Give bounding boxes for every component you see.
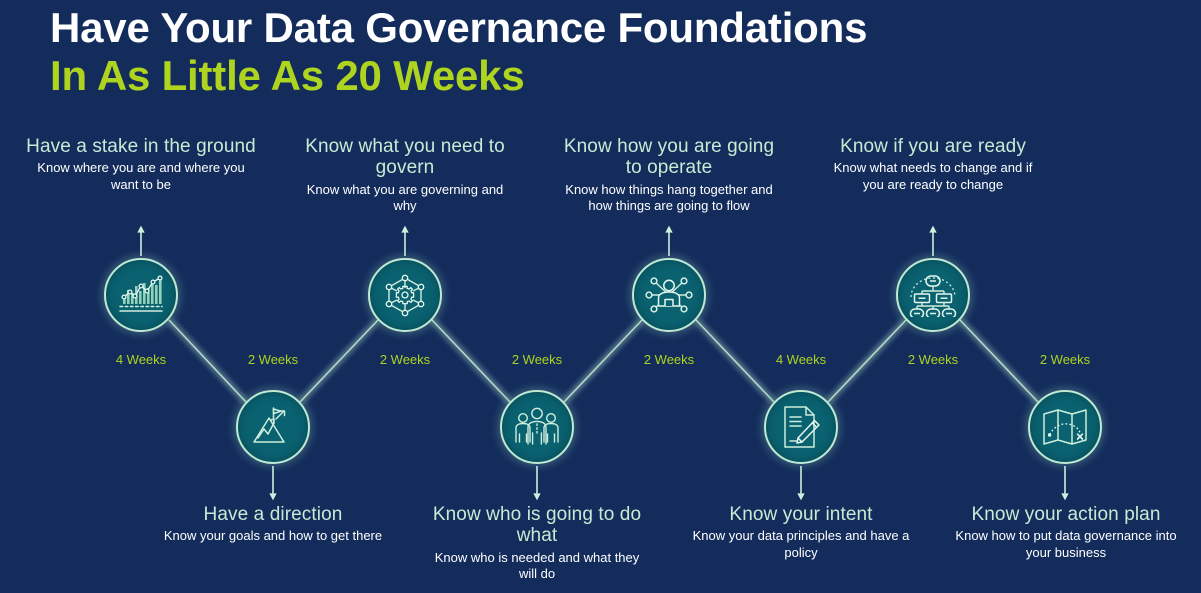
duration-label-6: 4 Weeks xyxy=(761,352,841,367)
caption-title-8: Know your action plan xyxy=(952,504,1180,525)
org-chart-hierarchy-icon xyxy=(908,273,958,317)
caption-title-1: Have a stake in the ground xyxy=(26,136,256,157)
duration-label-4: 2 Weeks xyxy=(497,352,577,367)
duration-label-3: 2 Weeks xyxy=(365,352,445,367)
caption-milestone-2: Have a direction Know your goals and how… xyxy=(162,504,384,545)
caption-milestone-7: Know if you are ready Know what needs to… xyxy=(822,136,1044,194)
caption-milestone-1: Have a stake in the ground Know where yo… xyxy=(26,136,256,194)
duration-label-2: 2 Weeks xyxy=(233,352,313,367)
caption-title-5: Know how you are going to operate xyxy=(558,136,780,179)
milestone-node-8[interactable] xyxy=(1028,390,1102,464)
three-people-team-icon xyxy=(513,406,561,448)
duration-label-1: 4 Weeks xyxy=(101,352,181,367)
duration-label-7: 2 Weeks xyxy=(893,352,973,367)
milestone-node-5[interactable] xyxy=(632,258,706,332)
duration-label-8: 2 Weeks xyxy=(1025,352,1105,367)
person-network-nodes-icon xyxy=(645,272,693,318)
infographic-canvas: Have Your Data Governance Foundations In… xyxy=(0,0,1201,593)
document-pencil-icon xyxy=(779,404,823,450)
caption-title-4: Know who is going to do what xyxy=(426,504,648,547)
caption-title-3: Know what you need to govern xyxy=(294,136,516,179)
caption-title-6: Know your intent xyxy=(690,504,912,525)
bar-chart-growth-icon xyxy=(117,273,165,317)
caption-milestone-8: Know your action plan Know how to put da… xyxy=(952,504,1180,562)
caption-subtitle-1: Know where you are and where you want to… xyxy=(26,160,256,193)
caption-subtitle-4: Know who is needed and what they will do xyxy=(426,550,648,583)
caption-subtitle-3: Know what you are governing and why xyxy=(294,182,516,215)
caption-subtitle-7: Know what needs to change and if you are… xyxy=(822,160,1044,193)
caption-subtitle-5: Know how things hang together and how th… xyxy=(558,182,780,215)
milestone-node-7[interactable] xyxy=(896,258,970,332)
caption-subtitle-8: Know how to put data governance into you… xyxy=(952,528,1180,561)
caption-milestone-5: Know how you are going to operate Know h… xyxy=(558,136,780,215)
milestone-node-3[interactable] xyxy=(368,258,442,332)
caption-milestone-6: Know your intent Know your data principl… xyxy=(690,504,912,562)
milestone-node-1[interactable] xyxy=(104,258,178,332)
milestone-node-6[interactable] xyxy=(764,390,838,464)
folded-map-route-icon xyxy=(1041,407,1089,447)
caption-milestone-3: Know what you need to govern Know what y… xyxy=(294,136,516,215)
caption-subtitle-6: Know your data principles and have a pol… xyxy=(690,528,912,561)
mountain-flag-summit-icon xyxy=(250,406,296,448)
caption-subtitle-2: Know your goals and how to get there xyxy=(162,528,384,545)
duration-label-5: 2 Weeks xyxy=(629,352,709,367)
caption-title-7: Know if you are ready xyxy=(822,136,1044,157)
caption-title-2: Have a direction xyxy=(162,504,384,525)
milestone-node-4[interactable] xyxy=(500,390,574,464)
hexagon-network-gear-icon xyxy=(382,272,428,318)
milestone-node-2[interactable] xyxy=(236,390,310,464)
caption-milestone-4: Know who is going to do what Know who is… xyxy=(426,504,648,583)
